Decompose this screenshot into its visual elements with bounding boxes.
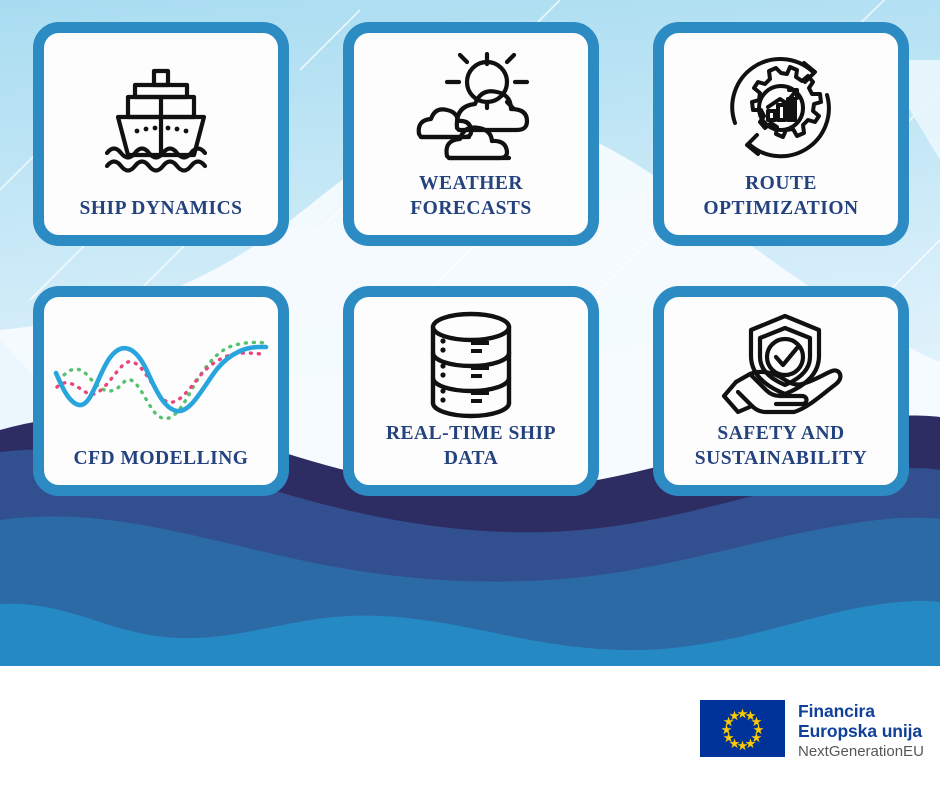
card-ship-dynamics[interactable]: SHIP DYNAMICS [33, 22, 289, 246]
sun-cloud-icon [362, 43, 580, 172]
eu-text-line2: Europska unija [798, 721, 924, 741]
card-real-time-ship-data[interactable]: REAL-TIME SHIP DATA [343, 286, 599, 496]
cfd-curve-blue [56, 347, 266, 411]
shield-check-hand-icon [672, 307, 890, 422]
capability-card-grid: SHIP DYNAMICS [33, 22, 909, 496]
card-weather-forecasts[interactable]: WEATHER FORECASTS [343, 22, 599, 246]
card-cfd-modelling[interactable]: CFD MODELLING [33, 286, 289, 496]
card-label-ship-dynamics: SHIP DYNAMICS [79, 197, 242, 229]
wave-curves-icon [52, 307, 270, 447]
ship-icon [52, 43, 270, 197]
eu-flag-icon [700, 700, 785, 757]
gear-chart-arrows-icon [672, 43, 890, 172]
infographic-canvas: SHIP DYNAMICS [0, 0, 940, 788]
card-label-route-optimization: ROUTE OPTIMIZATION [703, 172, 858, 229]
card-label-safety-sustainability: SAFETY AND SUSTAINABILITY [695, 422, 867, 479]
eu-funding-logo: Financira Europska unija NextGenerationE… [700, 700, 924, 762]
card-label-real-time-ship-data: REAL-TIME SHIP DATA [362, 422, 580, 479]
eu-logo-text: Financira Europska unija NextGenerationE… [798, 700, 924, 762]
eu-text-line3: NextGenerationEU [798, 742, 924, 762]
database-icon [362, 307, 580, 422]
eu-text-line1: Financira [798, 701, 924, 721]
card-label-cfd-modelling: CFD MODELLING [74, 447, 249, 479]
card-route-optimization[interactable]: ROUTE OPTIMIZATION [653, 22, 909, 246]
card-safety-sustainability[interactable]: SAFETY AND SUSTAINABILITY [653, 286, 909, 496]
card-label-weather-forecasts: WEATHER FORECASTS [362, 172, 580, 229]
